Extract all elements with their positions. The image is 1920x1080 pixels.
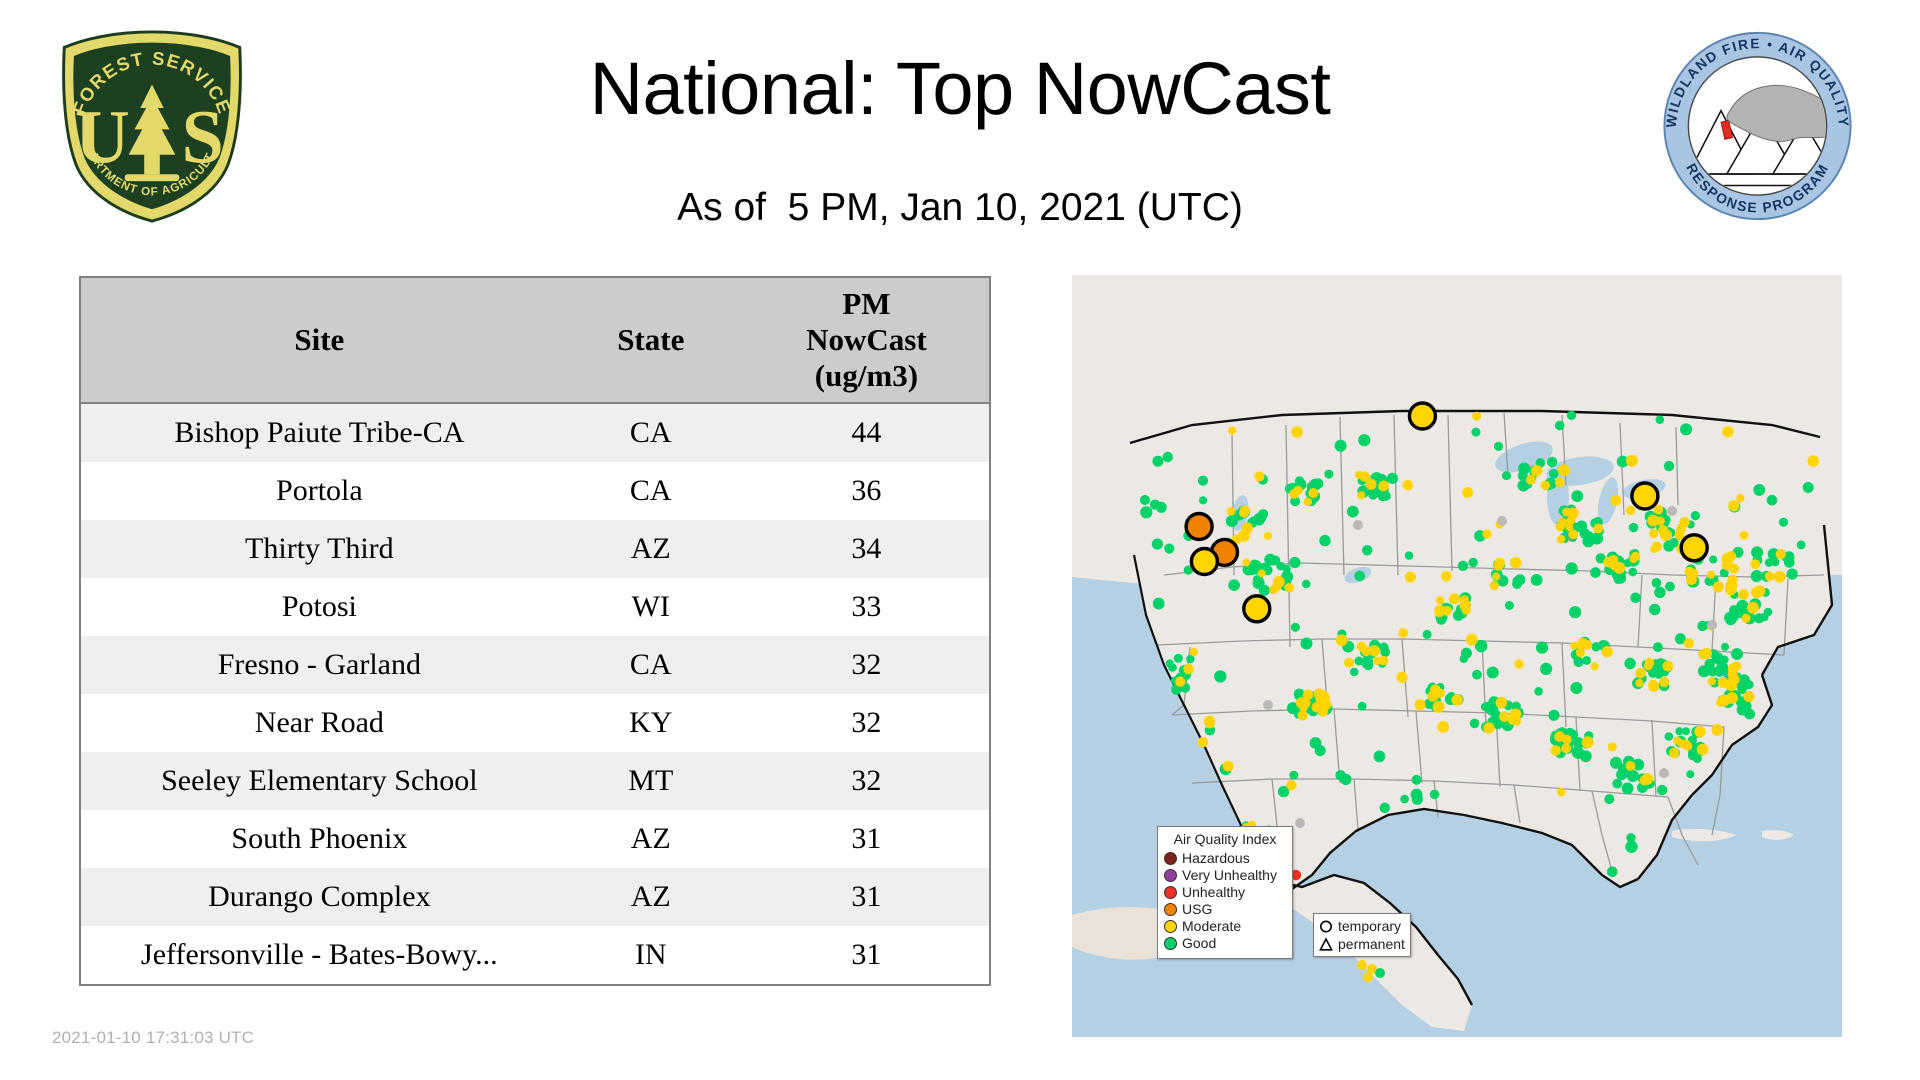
monitor-dot [1549,469,1559,479]
monitor-dot [1164,544,1174,554]
monitor-dot [1315,745,1326,756]
monitor-dot [1423,630,1432,639]
monitor-dot [1709,556,1717,564]
cell-site-cell: Potosi [81,578,558,636]
legend-row-temporary: temporary [1319,917,1405,935]
monitor-dot [1415,699,1426,710]
monitor-dot [1152,456,1163,467]
monitor-dot [1683,741,1693,751]
monitor-dot [1226,515,1238,527]
cell-state-cell: MT [558,752,744,810]
highlighted-site-marker[interactable]: Potosi [1632,483,1658,509]
monitor-dot [1740,531,1749,540]
monitor-dot [1649,604,1660,615]
monitor-type-legend: temporary permanent [1313,913,1411,957]
monitor-dot [1412,775,1422,785]
monitor-dot [1722,559,1733,570]
highlighted-site-marker[interactable]: Seeley Elementary School [1409,403,1435,429]
monitor-dot [1690,569,1699,578]
monitor-dot [1494,442,1503,451]
triangle-outline-icon [1319,937,1333,952]
monitor-dot [1379,656,1389,666]
highlighted-site-dot[interactable]: South Phoenix [1244,596,1270,622]
monitor-dot [1653,642,1663,652]
monitor-dot [1363,972,1373,982]
cell-site-cell: Near Road [81,694,558,752]
highlighted-site-dot[interactable]: Potosi [1632,483,1658,509]
monitor-dot [1686,770,1694,778]
cell-site-cell: Portola [81,462,558,520]
monitor-dot [1578,641,1588,651]
monitor-dot [1451,694,1462,705]
monitor-dot [1340,774,1351,785]
monitor-dot [1303,690,1314,701]
monitor-dot [1660,529,1672,541]
monitor-dot [1726,692,1738,704]
monitor-dot [1291,426,1303,438]
monitor-dot [1713,581,1724,592]
footer-timestamp: 2021-01-10 17:31:03 UTC [52,1028,254,1048]
monitor-dot-nodata [1353,520,1363,530]
monitor-dot [1490,581,1499,590]
monitor-dot [1557,788,1566,797]
monitor-dot [1624,658,1635,669]
monitor-dot [1214,670,1226,682]
monitor-dot [1315,691,1323,699]
cell-state-cell: AZ [558,810,744,868]
monitor-dot [1627,770,1639,782]
monitor-dot [1238,530,1250,542]
monitor-dot [1505,601,1514,610]
monitor-dot [1629,568,1638,577]
monitor-dot [1644,661,1653,670]
monitor-dot [1336,634,1348,646]
monitor-dot [1536,642,1548,654]
monitor-dot [1412,794,1423,805]
highlighted-site-dot[interactable]: Portola [1186,514,1212,540]
table-row[interactable]: Near RoadKY32 [81,694,989,752]
monitor-dot [1436,596,1444,604]
table-row[interactable]: Thirty ThirdAZ34 [81,520,989,578]
monitor-dot [1607,867,1618,878]
monitor-dot [1166,659,1174,667]
monitor-dot [1289,771,1298,780]
monitor-dot [1540,663,1552,675]
cell-pm-cell: 31 [744,868,989,926]
cell-pm-cell: 32 [744,752,989,810]
monitor-dot [1531,465,1543,477]
monitor-dot [1350,668,1358,676]
monitor-dot [1731,648,1743,660]
monitor-dot [1472,412,1481,421]
monitor-dot [1626,761,1636,771]
monitor-dot [1726,580,1738,592]
monitor-dot [1460,655,1468,663]
legend-row-permanent: permanent [1319,935,1405,953]
monitor-dot [1472,670,1482,680]
cell-site-cell: Bishop Paiute Tribe-CA [81,403,558,462]
legend-label: Hazardous [1182,850,1250,867]
monitor-dot [1593,524,1603,534]
monitor-dot [1729,612,1739,622]
monitor-dot [1378,490,1389,501]
monitor-dot [1304,498,1313,507]
monitor-dot [1642,773,1654,785]
table-row[interactable]: Durango ComplexAZ31 [81,868,989,926]
monitor-dot [1319,535,1330,546]
monitor-dot [1277,562,1286,571]
monitor-dot [1405,551,1413,559]
monitor-dot [1240,506,1251,517]
monitor-dot [1258,569,1266,577]
monitor-dot [1140,495,1150,505]
monitor-dot [1728,674,1739,685]
monitor-dot [1434,607,1445,618]
monitor-dot [1743,691,1754,702]
monitor-dot [1380,647,1390,657]
monitor-dot [1357,491,1365,499]
monitor-dot [1684,638,1694,648]
monitor-dot [1803,482,1814,493]
monitor-dot [1313,478,1323,488]
monitor-dot [1745,680,1754,689]
monitor-dot [1254,471,1264,481]
monitor-dot [1602,646,1613,657]
monitor-dot [1514,659,1523,668]
legend-row-unhealthy: Unhealthy [1164,884,1286,901]
legend-row-hazardous: Hazardous [1164,850,1286,867]
monitor-dot [1403,480,1414,491]
monitor-dot [1649,529,1658,538]
monitor-dot [1741,614,1750,623]
legend-swatch-icon [1164,903,1177,916]
monitor-dot [1712,724,1724,736]
legend-label: Unhealthy [1182,884,1245,901]
monitor-dot [1462,605,1471,614]
highlighted-site-marker[interactable]: Near Road [1681,535,1707,561]
monitor-dot [1694,726,1705,737]
monitor-dot [1568,530,1577,539]
monitor-dot [1583,532,1591,540]
cell-pm-cell: 32 [744,694,989,752]
monitor-dot [1765,572,1775,582]
monitor-dot [1482,529,1491,538]
monitor-dot [1716,698,1725,707]
table-row[interactable]: Fresno - GarlandCA32 [81,636,989,694]
monitor-dot [1396,672,1407,683]
monitor-dot [1675,727,1683,735]
monitor-dot [1750,559,1760,569]
monitor-dot [1360,471,1370,481]
monitor-dot [1718,677,1729,688]
cell-state-cell: WI [558,578,744,636]
monitor-dot [1751,570,1763,582]
monitor-dot [1573,746,1581,754]
monitor-dot [1494,558,1505,569]
monitor-dot [1174,654,1183,663]
table-row[interactable]: South PhoenixAZ31 [81,810,989,868]
monitor-dot [1558,464,1570,476]
monitor-dot [1571,490,1583,502]
monitor-dot [1680,423,1692,435]
cell-state-cell: CA [558,403,744,462]
monitor-dot [1654,587,1665,598]
monitor-dot [1335,440,1347,452]
monitor-dot [1631,552,1641,562]
cell-state-cell: CA [558,636,744,694]
monitor-dot [1534,687,1543,696]
monitor-dot [1738,589,1749,600]
monitor-dot [1380,803,1390,813]
monitor-dot [1691,511,1700,520]
monitor-dot [1156,502,1167,513]
monitor-dot [1753,484,1765,496]
monitor-dot [1680,517,1690,527]
monitor-dot [1483,722,1494,733]
monitor-dot [1656,516,1665,525]
monitor-dot [1198,737,1209,748]
highlighted-site-marker[interactable]: South Phoenix [1244,596,1270,622]
monitor-dot [1458,561,1468,571]
monitor-dot [1635,668,1645,678]
cell-state-cell: AZ [558,520,744,578]
monitor-dot [1656,415,1665,424]
monitor-dot [1242,559,1250,567]
monitor-dot [1541,481,1551,491]
monitor-dot [1608,742,1617,751]
monitor-dot [1630,593,1641,604]
column-header-state: State [558,278,744,403]
legend-swatch-icon [1164,937,1177,950]
highlighted-site-dot[interactable]: Seeley Elementary School [1409,403,1435,429]
cell-pm-cell: 33 [744,578,989,636]
legend-label-temporary: temporary [1338,918,1401,935]
monitor-dot [1358,434,1370,446]
monitor-dot [1659,677,1669,687]
monitor-dot [1289,557,1300,568]
monitor-dot [1471,428,1480,437]
legend-label: Moderate [1182,918,1241,935]
monitor-dot [1663,661,1674,672]
table-row[interactable]: PotosiWI33 [81,578,989,636]
monitor-dot [1512,579,1522,589]
monitor-dot [1460,595,1469,604]
monitor-dot [1569,606,1581,618]
monitor-dot [1190,648,1198,656]
top-nowcast-table: Site State PM NowCast (ug/m3) Bishop Pai… [79,276,991,986]
monitor-dot [1227,507,1236,516]
monitor-dot [1487,667,1499,679]
monitor-dot [1430,790,1440,800]
monitor-dot [1357,960,1367,970]
monitor-dot [1199,496,1207,504]
monitor-dot [1567,411,1576,420]
monitor-dot [1496,697,1508,709]
cell-state-cell: IN [558,926,744,984]
page-subtitle-asof: As of 5 PM, Jan 10, 2021 (UTC) [0,186,1920,230]
monitor-dot [1565,523,1573,531]
monitor-dot [1555,421,1565,431]
monitor-dot [1354,571,1365,582]
column-header-site: Site [81,278,558,403]
monitor-dot [1557,535,1566,544]
monitor-dot [1398,628,1408,638]
monitor-dot-nodata [1659,768,1669,778]
monitor-dot [1163,452,1173,462]
monitor-dot [1650,545,1658,553]
monitor-dot [1449,593,1460,604]
monitor-dot [1635,679,1643,687]
monitor-dot [1698,649,1709,660]
monitor-dot [1797,541,1806,550]
monitor-dot [1295,476,1304,485]
monitor-dot [1531,574,1543,586]
monitor-dot [1152,539,1163,550]
cell-state-cell: CA [558,462,744,520]
monitor-dot [1228,427,1236,435]
monitor-dot [1707,571,1715,579]
monitor-dot [1551,745,1562,756]
monitor-dot-nodata [1263,700,1273,710]
monitor-dot [1492,572,1500,580]
legend-row-good: Good [1164,935,1286,952]
monitor-dot [1175,677,1185,687]
monitor-dot [1510,557,1522,569]
table-body: Bishop Paiute Tribe-CACA44PortolaCA36Thi… [81,403,989,984]
monitor-dot [1591,662,1599,670]
monitor-dot [1728,500,1739,511]
cell-state-cell: KY [558,694,744,752]
cell-site-cell: South Phoenix [81,810,558,868]
monitor-dot [1526,475,1536,485]
legend-label: Good [1182,935,1216,952]
monitor-dot [1562,508,1571,517]
monitor-dot [1387,473,1398,484]
monitor-dot [1301,638,1313,650]
monitor-dot [1347,506,1359,518]
monitor-dot [1626,506,1635,515]
monitor-dot [1462,487,1473,498]
monitor-dot [1626,455,1638,467]
monitor-dot [1610,562,1619,571]
monitor-dot [1590,567,1601,578]
monitor-dot [1264,532,1272,540]
table-header-row: Site State PM NowCast (ug/m3) [81,278,989,403]
legend-swatch-icon [1164,920,1177,933]
monitor-dot [1664,461,1674,471]
monitor-dot [1697,744,1709,756]
monitor-dot [1561,743,1571,753]
circle-outline-icon [1319,919,1333,934]
monitor-dot [1657,785,1667,795]
monitor-dot [1378,481,1388,491]
monitor-dot [1736,494,1744,502]
monitor-dot [1291,623,1300,632]
monitor-dot [1272,582,1282,592]
monitor-dot [1576,522,1586,532]
legend-label: USG [1182,901,1212,918]
cell-pm-cell: 34 [744,520,989,578]
monitor-dot [1324,470,1333,479]
monitor-dot [1264,554,1276,566]
monitor-dot [1183,664,1194,675]
monitor-dot [1223,761,1234,772]
monitor-dot [1582,736,1594,748]
monitor-dot [1405,572,1416,583]
monitor-dot [1547,457,1557,467]
monitor-dot [1375,968,1385,978]
legend-swatch-icon [1164,869,1177,882]
monitor-dot [1705,659,1715,669]
highlighted-site-marker[interactable]: Bishop Paiute Tribe-CA [1191,549,1217,575]
monitor-dot-nodata [1667,506,1677,516]
highlighted-site-marker[interactable]: Portola [1186,514,1212,540]
monitor-dot [1549,710,1560,721]
monitor-dot [1286,780,1296,790]
monitor-dot [1747,602,1759,614]
monitor-dot [1284,583,1293,592]
page-title: National: Top NowCast [0,48,1920,130]
table-row[interactable]: Seeley Elementary SchoolMT32 [81,752,989,810]
monitor-dot [1669,748,1679,758]
table-row[interactable]: Bishop Paiute Tribe-CACA44 [81,403,989,462]
cell-pm-cell: 31 [744,810,989,868]
table-row[interactable]: Jeffersonville - Bates-Bowy...IN31 [81,926,989,984]
monitor-dot [1344,658,1354,668]
legend-row-very-unhealthy: Very Unhealthy [1164,867,1286,884]
highlighted-site-dot[interactable]: Bishop Paiute Tribe-CA [1191,549,1217,575]
monitor-dot [1302,580,1310,588]
monitor-dot [1441,571,1452,582]
monitor-dot [1708,677,1716,685]
monitor-dot [1468,558,1477,567]
highlighted-site-dot[interactable]: Near Road [1681,535,1707,561]
monitor-dot [1317,706,1328,717]
cell-pm-cell: 32 [744,636,989,694]
legend-label-permanent: permanent [1338,936,1405,953]
monitor-dot [1140,506,1152,518]
monitor-dot-nodata [1707,620,1717,630]
monitor-dot [1626,833,1635,842]
monitor-dot [1604,794,1614,804]
monitor-dot [1369,645,1380,656]
legend-row-usg: USG [1164,901,1286,918]
monitor-dot [1570,642,1578,650]
monitor-dot [1466,634,1478,646]
legend-swatch-icon [1164,886,1177,899]
monitor-dot [1738,702,1749,713]
monitor-dot [1374,751,1386,763]
monitor-dot [1807,455,1819,467]
monitor-dot [1622,783,1634,795]
cell-pm-cell: 36 [744,462,989,520]
monitor-dot [1721,643,1729,651]
monitor-dot [1754,585,1766,597]
monitor-dot [1555,478,1565,488]
monitor-dot [1358,702,1367,711]
monitor-dot [1722,426,1733,437]
table-row[interactable]: PortolaCA36 [81,462,989,520]
legend-label: Very Unhealthy [1182,867,1277,884]
cell-pm-cell: 44 [744,403,989,462]
monitor-dot [1362,545,1372,555]
monitor-dot [1648,680,1658,690]
aqi-legend: Air Quality Index HazardousVery Unhealth… [1157,826,1293,959]
monitor-dot [1787,569,1798,580]
monitor-dot-nodata [1295,818,1305,828]
monitor-dot [1652,578,1662,588]
monitor-dot [1767,495,1778,506]
